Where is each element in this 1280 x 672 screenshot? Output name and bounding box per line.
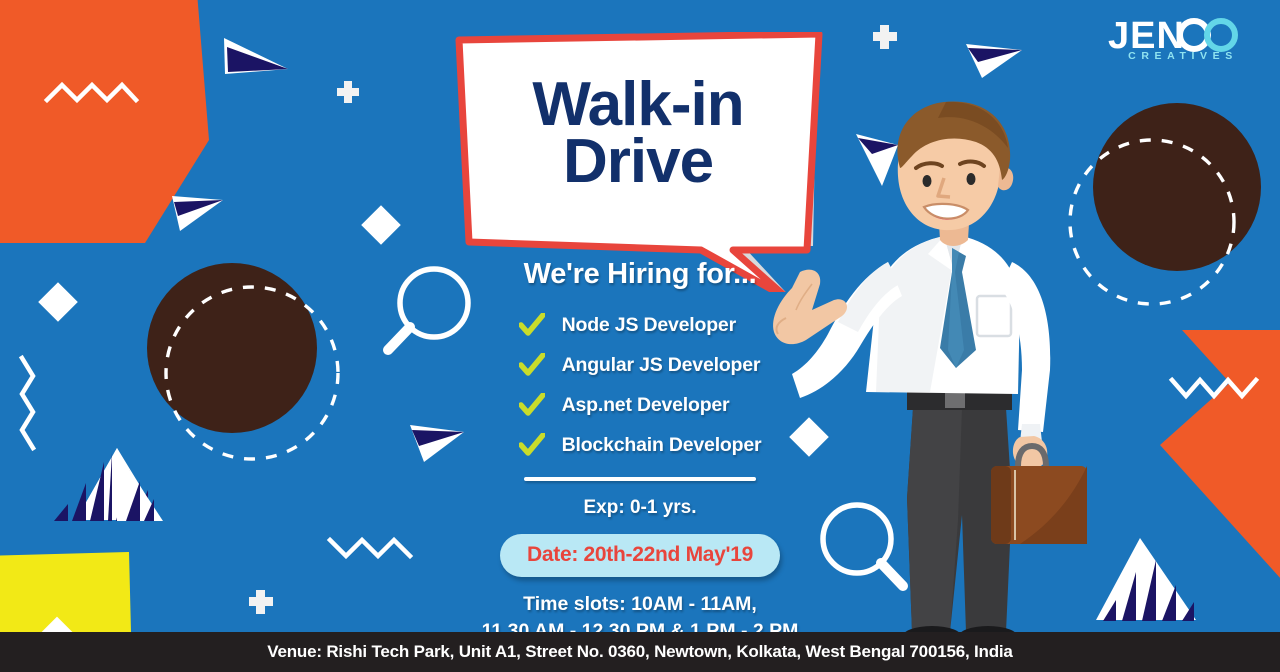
jenco-logo: JEN CREATIVES [1084, 8, 1262, 70]
job-label: Angular JS Developer [562, 354, 761, 377]
job-list-item: Angular JS Developer [519, 353, 762, 377]
eye-right [967, 173, 976, 185]
logo-tagline: CREATIVES [1108, 50, 1258, 62]
walkin-drive-poster: Walk-in Drive We're Hiring for... Node J… [0, 0, 1280, 672]
check-icon [519, 393, 545, 417]
bubble-headline-line2: Drive [443, 133, 833, 190]
job-list: Node JS Developer Angular JS Developer A… [519, 313, 762, 473]
job-list-item: Asp.net Developer [519, 393, 762, 417]
bubble-headline: Walk-in Drive [443, 76, 833, 190]
check-icon [519, 353, 545, 377]
venue-text: Venue: Rishi Tech Park, Unit A1, Street … [267, 642, 1012, 662]
logo-loop-right [1207, 21, 1235, 49]
speech-bubble: Walk-in Drive [443, 32, 833, 292]
job-label: Blockchain Developer [562, 434, 762, 457]
job-list-item: Node JS Developer [519, 313, 762, 337]
eye-left [923, 175, 932, 187]
time-slots-line1: Time slots: 10AM - 11AM, [424, 591, 856, 618]
experience-text: Exp: 0-1 yrs. [424, 497, 856, 519]
job-label: Asp.net Developer [562, 394, 730, 417]
job-list-item: Blockchain Developer [519, 433, 762, 457]
venue-bar: Venue: Rishi Tech Park, Unit A1, Street … [0, 632, 1280, 672]
date-badge: Date: 20th-22nd May'19 [500, 534, 780, 577]
hiring-title: We're Hiring for... [424, 258, 856, 291]
check-icon [519, 433, 545, 457]
check-icon [519, 313, 545, 337]
hiring-section: We're Hiring for... Node JS Developer An… [424, 258, 856, 644]
job-label: Node JS Developer [562, 314, 736, 337]
divider [524, 477, 756, 481]
